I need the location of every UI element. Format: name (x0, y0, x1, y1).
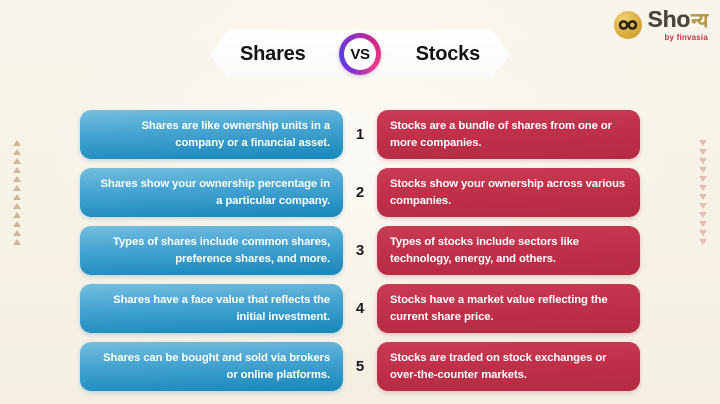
stocks-card: Stocks are a bundle of shares from one o… (377, 110, 640, 159)
brand-name-devanagari: न्य (691, 11, 708, 31)
shares-card: Shares have a face value that reflects t… (80, 284, 343, 333)
comparison-rows: Shares are like ownership units in a com… (0, 110, 720, 391)
stocks-card: Stocks show your ownership across variou… (377, 168, 640, 217)
comparison-row: Types of shares include common shares, p… (0, 226, 720, 275)
stocks-card: Stocks have a market value reflecting th… (377, 284, 640, 333)
brand-byline: by finvasia (664, 33, 708, 42)
shares-card: Types of shares include common shares, p… (80, 226, 343, 275)
shares-card: Shares can be bought and sold via broker… (80, 342, 343, 391)
comparison-row: Shares show your ownership percentage in… (0, 168, 720, 217)
comparison-row: Shares have a face value that reflects t… (0, 284, 720, 333)
vs-badge: VS (339, 33, 381, 75)
vs-label: VS (350, 46, 369, 63)
stocks-card: Types of stocks include sectors like tec… (377, 226, 640, 275)
banner-left-label: Shares (240, 43, 306, 66)
row-number: 1 (343, 110, 377, 159)
infinity-icon (614, 11, 642, 39)
row-number: 5 (343, 342, 377, 391)
banner-right-label: Stocks (416, 43, 480, 66)
row-number: 4 (343, 284, 377, 333)
row-number: 3 (343, 226, 377, 275)
brand-logo: Shoन्य by finvasia (614, 8, 708, 42)
stocks-card: Stocks are traded on stock exchanges or … (377, 342, 640, 391)
vs-badge-inner: VS (344, 38, 376, 70)
brand-name-latin: Sho (648, 8, 691, 31)
shares-card: Shares show your ownership percentage in… (80, 168, 343, 217)
brand-name: Shoन्य (648, 8, 708, 31)
comparison-row: Shares can be bought and sold via broker… (0, 342, 720, 391)
row-number: 2 (343, 168, 377, 217)
comparison-row: Shares are like ownership units in a com… (0, 110, 720, 159)
shares-card: Shares are like ownership units in a com… (80, 110, 343, 159)
